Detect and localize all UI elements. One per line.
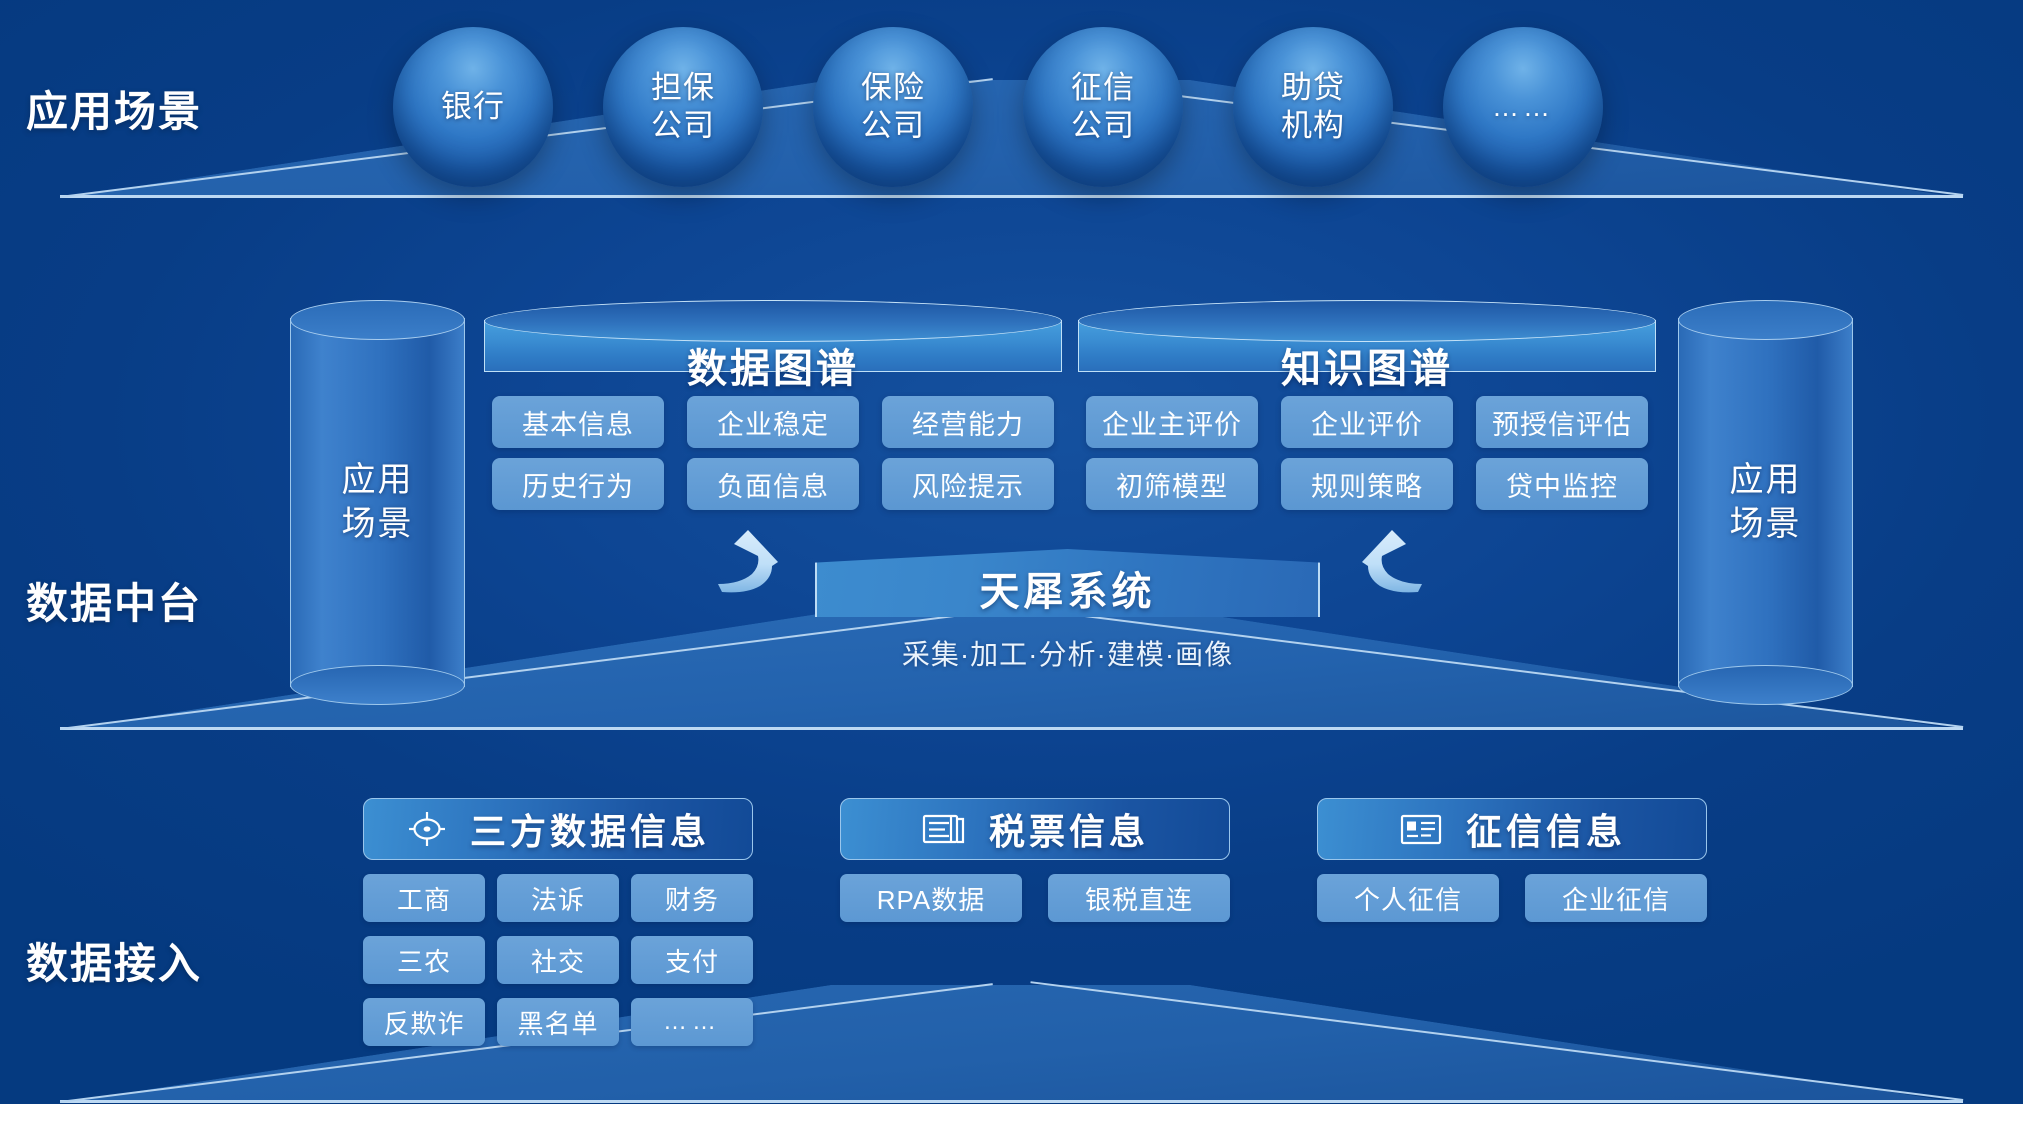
system-banner-subtitle: 采集·加工·分析·建模·画像 xyxy=(815,633,1320,673)
tag-credit-enterprise[interactable]: 企业征信 xyxy=(1525,874,1707,922)
sphere-label: 担保 公司 xyxy=(651,69,715,145)
system-banner-title[interactable]: 天犀系统 xyxy=(815,549,1320,617)
tier-label-application-scene: 应用场景 xyxy=(26,78,202,139)
drum-title: 数据图谱 xyxy=(484,336,1062,394)
tag-tax-bank-tax-direct-link[interactable]: 银税直连 xyxy=(1048,874,1230,922)
source-panel-title: 征信信息 xyxy=(1466,803,1626,855)
chip-data-graph-historical-behavior[interactable]: 历史行为 xyxy=(492,458,664,510)
chip-data-graph-risk-alert[interactable]: 风险提示 xyxy=(882,458,1054,510)
tag-third-party-finance[interactable]: 财务 xyxy=(631,874,753,922)
source-panel-title: 税票信息 xyxy=(989,803,1149,855)
tag-third-party-more[interactable]: …… xyxy=(631,998,753,1046)
drum-data-graph[interactable]: 数据图谱 xyxy=(484,300,1062,372)
diagram-canvas: 应用场景 数据中台 数据接入 银行 担保 公司 保险 公司 征信 公司 助贷 机… xyxy=(0,0,2023,1104)
drum-title: 知识图谱 xyxy=(1078,336,1656,394)
tag-third-party-industry-commerce[interactable]: 工商 xyxy=(363,874,485,922)
invoice-icon xyxy=(921,810,967,848)
tag-third-party-litigation[interactable]: 法诉 xyxy=(497,874,619,922)
arrow-up-left-icon xyxy=(700,522,830,637)
scene-sphere-insurance-company[interactable]: 保险 公司 xyxy=(813,27,973,187)
chip-data-graph-basic-info[interactable]: 基本信息 xyxy=(492,396,664,448)
architecture-diagram: 应用场景 数据中台 数据接入 银行 担保 公司 保险 公司 征信 公司 助贷 机… xyxy=(0,0,2023,1130)
chip-knowledge-graph-loan-monitoring[interactable]: 贷中监控 xyxy=(1476,458,1648,510)
scene-sphere-guarantee-company[interactable]: 担保 公司 xyxy=(603,27,763,187)
chip-data-graph-enterprise-stability[interactable]: 企业稳定 xyxy=(687,396,859,448)
platform-face xyxy=(60,985,1963,1103)
sphere-label: …… xyxy=(1492,91,1554,124)
cylinder-label: 应用 场景 xyxy=(290,458,465,548)
drum-knowledge-graph[interactable]: 知识图谱 xyxy=(1078,300,1656,372)
platform-face xyxy=(60,80,1963,198)
id-card-icon xyxy=(1398,810,1444,848)
tag-third-party-blacklist[interactable]: 黑名单 xyxy=(497,998,619,1046)
cylinder-top-ellipse xyxy=(290,300,465,340)
platform-mid-baseline xyxy=(60,727,1963,730)
chip-knowledge-graph-screening-model[interactable]: 初筛模型 xyxy=(1086,458,1258,510)
cylinder-bottom-ellipse xyxy=(290,665,465,705)
cylinder-top-ellipse xyxy=(1678,300,1853,340)
tag-third-party-agriculture[interactable]: 三农 xyxy=(363,936,485,984)
cylinder-bottom-ellipse xyxy=(1678,665,1853,705)
chip-knowledge-graph-rule-strategy[interactable]: 规则策略 xyxy=(1281,458,1453,510)
sphere-label: 保险 公司 xyxy=(861,69,925,145)
tag-third-party-anti-fraud[interactable]: 反欺诈 xyxy=(363,998,485,1046)
crosshair-target-icon xyxy=(406,808,448,850)
chip-knowledge-graph-owner-evaluation[interactable]: 企业主评价 xyxy=(1086,396,1258,448)
chip-data-graph-operating-capability[interactable]: 经营能力 xyxy=(882,396,1054,448)
source-panel-title: 三方数据信息 xyxy=(470,803,710,855)
cylinder-application-scene-right[interactable]: 应用 场景 xyxy=(1678,300,1853,705)
cylinder-label: 应用 场景 xyxy=(1678,458,1853,548)
bottom-white-strip xyxy=(0,1104,2023,1130)
tier-label-data-access: 数据接入 xyxy=(26,930,202,991)
chip-data-graph-negative-info[interactable]: 负面信息 xyxy=(687,458,859,510)
chip-knowledge-graph-enterprise-evaluation[interactable]: 企业评价 xyxy=(1281,396,1453,448)
platform-top-baseline xyxy=(60,195,1963,198)
platform-application-scene xyxy=(60,80,1963,198)
platform-bottom-baseline xyxy=(60,1100,1963,1103)
tier-label-data-middle: 数据中台 xyxy=(26,570,202,631)
source-panel-header-tax-invoice[interactable]: 税票信息 xyxy=(840,798,1230,860)
scene-sphere-bank[interactable]: 银行 xyxy=(393,27,553,187)
arrow-up-right-icon xyxy=(1310,522,1440,637)
chip-knowledge-graph-pre-credit-assessment[interactable]: 预授信评估 xyxy=(1476,396,1648,448)
source-panel-header-credit-report[interactable]: 征信信息 xyxy=(1317,798,1707,860)
source-panel-header-third-party-data[interactable]: 三方数据信息 xyxy=(363,798,753,860)
tag-third-party-social[interactable]: 社交 xyxy=(497,936,619,984)
tag-credit-personal[interactable]: 个人征信 xyxy=(1317,874,1499,922)
tag-third-party-payment[interactable]: 支付 xyxy=(631,936,753,984)
cylinder-application-scene-left[interactable]: 应用 场景 xyxy=(290,300,465,705)
scene-sphere-more[interactable]: …… xyxy=(1443,27,1603,187)
platform-data-access xyxy=(60,985,1963,1103)
sphere-label: 银行 xyxy=(441,88,505,126)
sphere-label: 征信 公司 xyxy=(1071,69,1135,145)
scene-sphere-credit-company[interactable]: 征信 公司 xyxy=(1023,27,1183,187)
sphere-label: 助贷 机构 xyxy=(1281,69,1345,145)
tag-tax-rpa-data[interactable]: RPA数据 xyxy=(840,874,1022,922)
scene-sphere-loan-agency[interactable]: 助贷 机构 xyxy=(1233,27,1393,187)
